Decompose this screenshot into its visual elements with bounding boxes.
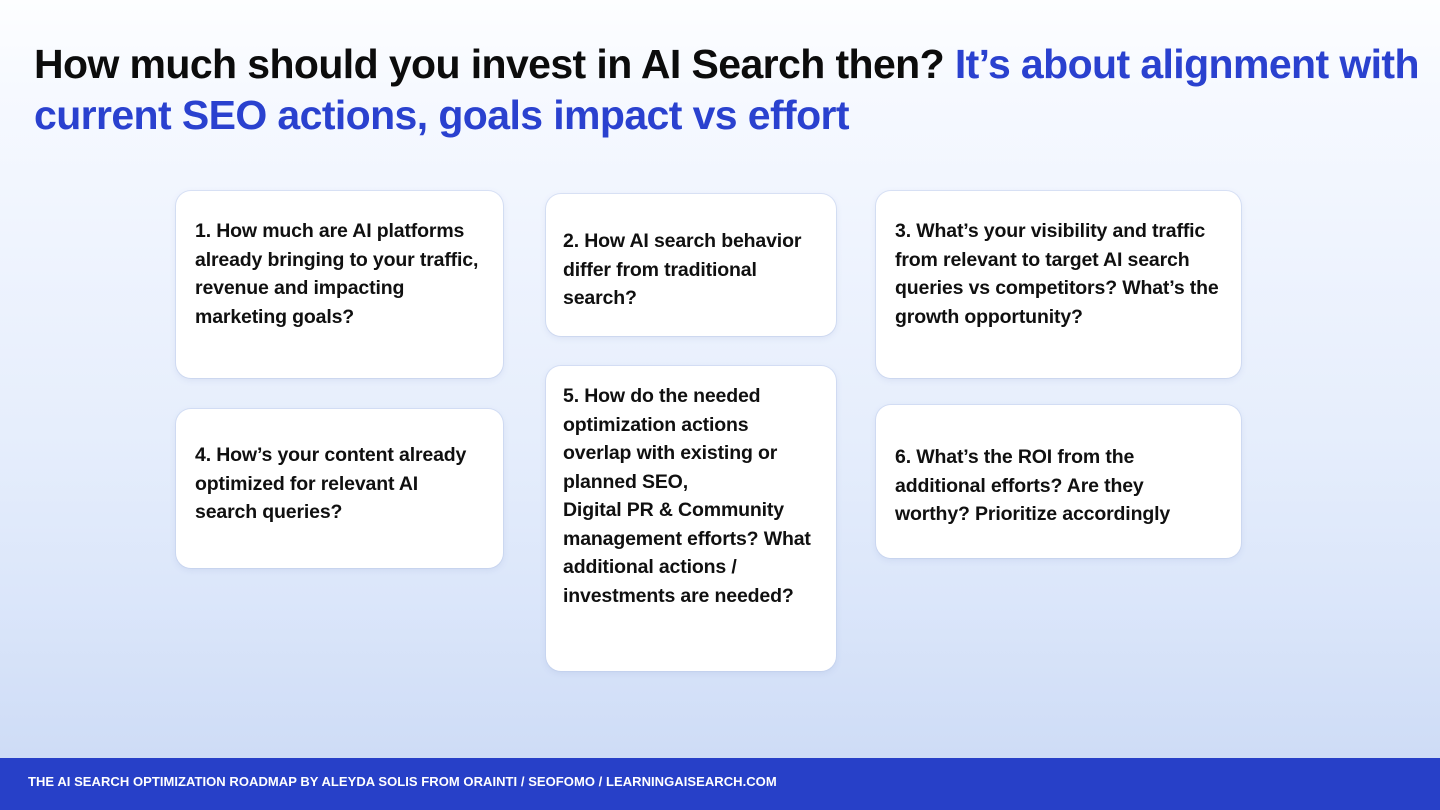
slide-canvas: How much should you invest in AI Search … [0,0,1440,810]
question-card-4[interactable]: 4. How’s your content already optimized … [176,409,503,568]
page-title-lead: How much should you invest in AI Search … [34,41,955,87]
question-card-3-text: 3. What’s your visibility and traffic fr… [895,217,1221,331]
question-card-2[interactable]: 2. How AI search behavior differ from tr… [546,194,836,336]
question-card-1[interactable]: 1. How much are AI platforms already bri… [176,191,503,378]
question-card-1-text: 1. How much are AI platforms already bri… [195,217,483,331]
question-card-4-text: 4. How’s your content already optimized … [195,441,483,527]
footer-attribution-text: THE AI SEARCH OPTIMIZATION ROADMAP BY AL… [28,774,777,789]
page-title: How much should you invest in AI Search … [34,39,1434,141]
question-card-3[interactable]: 3. What’s your visibility and traffic fr… [876,191,1241,378]
question-card-5-text: 5. How do the needed optimization action… [563,382,818,610]
question-card-2-text: 2. How AI search behavior differ from tr… [563,227,818,313]
question-card-5[interactable]: 5. How do the needed optimization action… [546,366,836,671]
footer-bar: THE AI SEARCH OPTIMIZATION ROADMAP BY AL… [0,758,1440,810]
question-card-6-text: 6. What’s the ROI from the additional ef… [895,443,1223,529]
question-card-6[interactable]: 6. What’s the ROI from the additional ef… [876,405,1241,558]
